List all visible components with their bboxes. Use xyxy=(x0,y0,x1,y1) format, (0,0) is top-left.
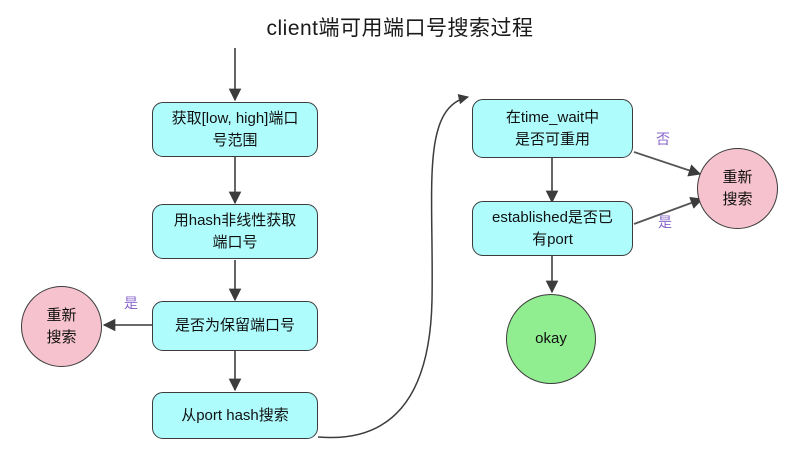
node-okay[interactable]: okay xyxy=(506,294,596,384)
node-label: 用hash非线性获取 端口号 xyxy=(174,210,297,254)
edge-n4-to-n5 xyxy=(318,97,468,438)
edge-n5-to-restart-right xyxy=(634,152,700,174)
node-label: 从port hash搜索 xyxy=(181,405,289,427)
edge-label-established-yes: 是 xyxy=(658,212,672,232)
edge-label-reserved-yes: 是 xyxy=(124,293,138,313)
node-label: okay xyxy=(535,328,567,350)
node-established-has-port[interactable]: established是否已 有port xyxy=(472,201,633,256)
node-label: 重新 搜索 xyxy=(722,167,752,211)
node-label: 重新 搜索 xyxy=(46,305,76,349)
node-label: 获取[low, high]端口 号范围 xyxy=(172,108,299,152)
node-is-reserved-port[interactable]: 是否为保留端口号 xyxy=(152,301,318,351)
node-search-port-hash[interactable]: 从port hash搜索 xyxy=(152,392,318,439)
flowchart-canvas: client端可用端口号搜索过程 获取[low, high]端口 号范围 xyxy=(0,0,800,465)
edge-label-timewait-no: 否 xyxy=(656,129,670,149)
node-get-port-range[interactable]: 获取[low, high]端口 号范围 xyxy=(152,102,318,157)
flowchart-connectors xyxy=(0,0,800,465)
node-label: 是否为保留端口号 xyxy=(175,315,295,337)
node-timewait-reusable[interactable]: 在time_wait中 是否可重用 xyxy=(472,99,633,158)
node-label: 在time_wait中 是否可重用 xyxy=(506,107,599,151)
node-restart-search-left[interactable]: 重新 搜索 xyxy=(21,286,102,367)
node-label: established是否已 有port xyxy=(492,207,613,251)
node-restart-search-right[interactable]: 重新 搜索 xyxy=(697,148,778,229)
node-hash-nonlinear-port[interactable]: 用hash非线性获取 端口号 xyxy=(152,204,318,259)
